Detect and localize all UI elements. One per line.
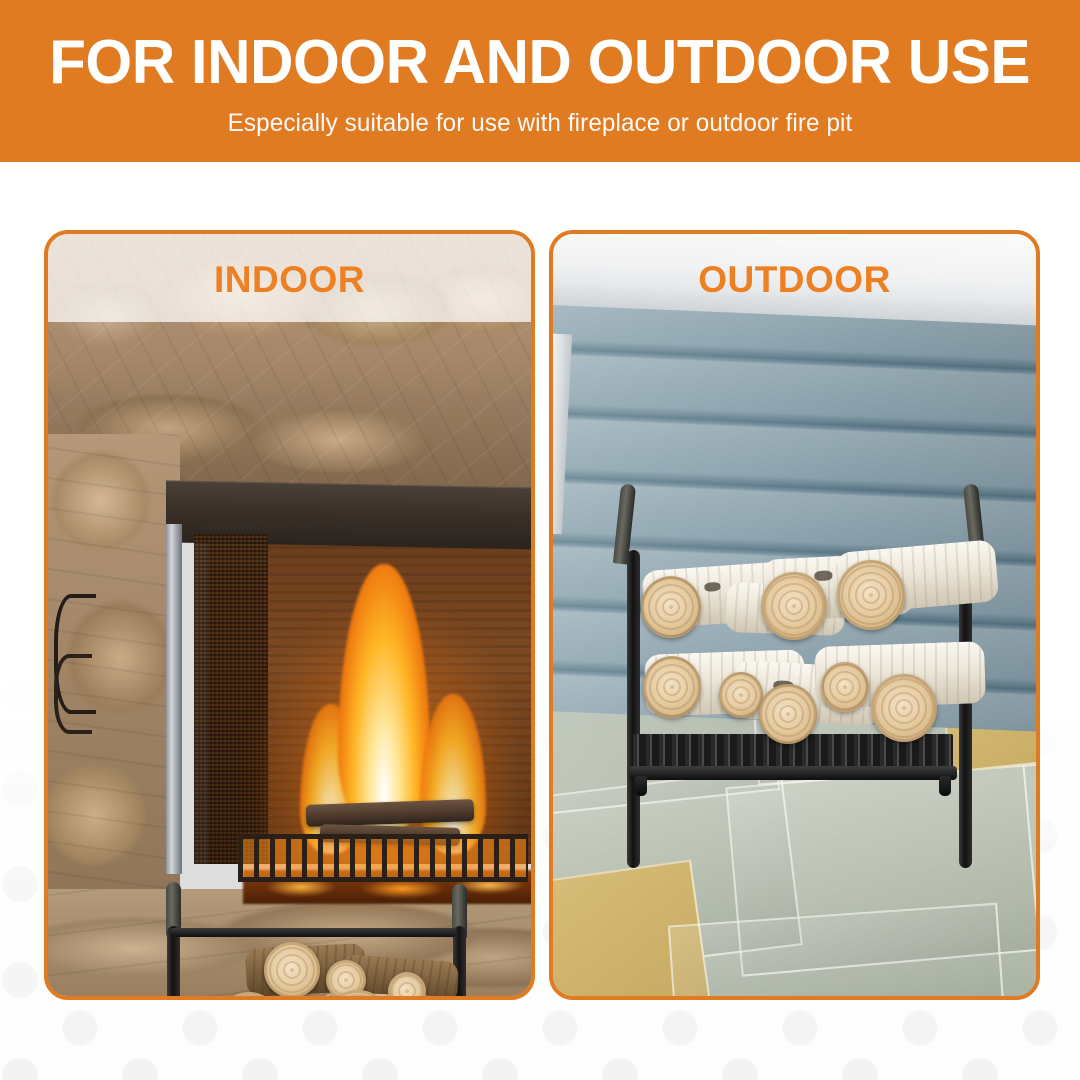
fireplace-mesh-screen (194, 534, 268, 864)
log-round-top (264, 942, 320, 996)
log-rack-outdoor (615, 484, 985, 884)
fireplace-tool-hook-lower-icon (54, 654, 92, 734)
log-rack-indoor (160, 882, 478, 996)
log-face-lower-midleft (719, 672, 763, 718)
log-face-lower-right (871, 674, 937, 742)
card-label-outdoor: OUTDOOR (553, 259, 1036, 301)
birch-log-knot-2 (814, 570, 832, 581)
log-face-upper-right (837, 560, 905, 630)
birch-log-knot-1 (704, 582, 721, 592)
fireplace-glass-door-frame (166, 524, 182, 874)
header-banner: FOR INDOOR AND OUTDOOR USE Especially su… (0, 0, 1080, 162)
log-face-upper-mid (761, 572, 827, 640)
indoor-scene-image (48, 234, 531, 996)
rack-post-left-outdoor (627, 550, 640, 868)
page-title: FOR INDOOR AND OUTDOOR USE (50, 30, 1031, 95)
card-indoor[interactable]: INDOOR (44, 230, 535, 1000)
rack-foot-right-outdoor (939, 776, 951, 796)
card-label-indoor: INDOOR (48, 259, 531, 301)
rack-base-bar-outdoor (629, 766, 957, 780)
card-outdoor[interactable]: OUTDOOR (549, 230, 1040, 1000)
rack-foot-left-outdoor (635, 776, 647, 796)
outdoor-scene-image (553, 234, 1036, 996)
log-face-lower-mid (759, 684, 817, 744)
log-face-lower-midright (821, 662, 869, 712)
log-face-lower-left (643, 656, 701, 718)
log-face-upper-left (641, 576, 701, 638)
card-row: INDOOR (44, 230, 1040, 1000)
fireplace-grate (238, 834, 528, 882)
page-subtitle: Especially suitable for use with firepla… (228, 109, 853, 138)
rack-top-rail (170, 928, 456, 937)
